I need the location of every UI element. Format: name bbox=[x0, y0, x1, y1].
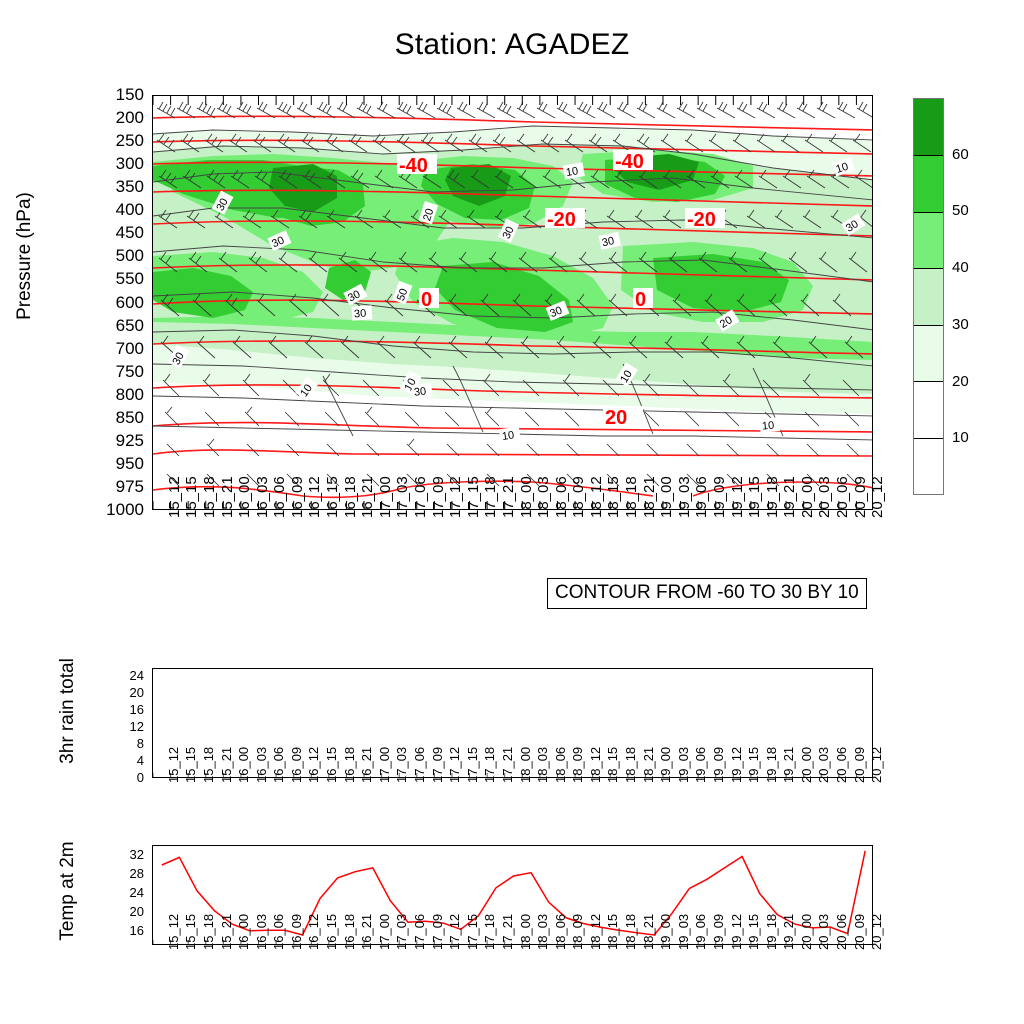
x-tick-label: 16_00 bbox=[236, 476, 253, 518]
x-tick-label: 19_03 bbox=[676, 476, 693, 518]
x-tick-label: 16_18 bbox=[342, 476, 359, 518]
x-tick-label: 16_18 bbox=[342, 747, 357, 783]
x-tick-label: 17_21 bbox=[500, 747, 515, 783]
x-tick-label: 15_15 bbox=[183, 914, 198, 950]
x-tick-label: 17_09 bbox=[430, 747, 445, 783]
x-tick-label: 18_06 bbox=[553, 476, 570, 518]
svg-text:20: 20 bbox=[605, 407, 627, 429]
x-tick-label: 19_00 bbox=[658, 747, 673, 783]
x-tick-label: 16_06 bbox=[271, 914, 286, 950]
x-tick-label: 18_03 bbox=[535, 747, 550, 783]
contour-range-note: CONTOUR FROM -60 TO 30 BY 10 bbox=[547, 578, 867, 609]
svg-text:10: 10 bbox=[762, 420, 775, 433]
y-tick-label: 950 bbox=[84, 455, 144, 472]
colorbar-band bbox=[914, 99, 943, 155]
x-tick-label: 18_03 bbox=[535, 476, 552, 518]
x-tick-label: 19_12 bbox=[729, 914, 744, 950]
y-tick-label: 150 bbox=[84, 86, 144, 103]
x-tick-label: 16_03 bbox=[254, 747, 269, 783]
x-tick-label: 19_18 bbox=[764, 914, 779, 950]
x-tick-label: 15_21 bbox=[219, 747, 234, 783]
x-tick-label: 15_12 bbox=[166, 914, 181, 950]
y-tick-label: 650 bbox=[84, 317, 144, 334]
x-tick-label: 18_21 bbox=[641, 914, 656, 950]
x-tick-label: 17_06 bbox=[412, 747, 427, 783]
x-tick-label: 15_18 bbox=[201, 476, 218, 518]
x-tick-label: 15_18 bbox=[201, 747, 216, 783]
x-tick-label: 16_06 bbox=[271, 747, 286, 783]
x-tick-label: 16_00 bbox=[236, 914, 251, 950]
colorbar-tick-label: 10 bbox=[952, 429, 969, 446]
y-tick-label: 750 bbox=[84, 363, 144, 380]
y-tick-label: 16 bbox=[104, 924, 144, 937]
x-tick-label: 16_12 bbox=[306, 476, 323, 518]
y-axis-label-rain: 3hr rain total bbox=[57, 611, 79, 811]
x-tick-label: 18_03 bbox=[535, 914, 550, 950]
y-tick-label: 400 bbox=[84, 201, 144, 218]
x-tick-label: 19_00 bbox=[658, 476, 675, 518]
x-tick-label: 18_21 bbox=[641, 747, 656, 783]
y-tick-label: 600 bbox=[84, 294, 144, 311]
x-tick-label: 18_09 bbox=[570, 476, 587, 518]
colorbar-band bbox=[914, 155, 943, 211]
svg-text:30: 30 bbox=[601, 235, 615, 249]
x-tick-label: 15_18 bbox=[201, 914, 216, 950]
x-tick-label: 17_09 bbox=[430, 914, 445, 950]
y-tick-label: 28 bbox=[104, 867, 144, 880]
x-tick-label: 17_03 bbox=[394, 914, 409, 950]
x-tick-label: 19_21 bbox=[781, 747, 796, 783]
x-tick-label: 19_18 bbox=[764, 747, 779, 783]
x-tick-label: 17_15 bbox=[465, 747, 480, 783]
x-tick-label: 17_06 bbox=[412, 914, 427, 950]
y-tick-label: 350 bbox=[84, 178, 144, 195]
x-tick-label: 20_06 bbox=[834, 476, 851, 518]
x-tick-label: 20_06 bbox=[834, 747, 849, 783]
x-tick-label: 17_12 bbox=[447, 747, 462, 783]
y-tick-label: 550 bbox=[84, 270, 144, 287]
x-tick-label: 17_18 bbox=[482, 747, 497, 783]
cross-section-canvas: 30 30 30 50 20 30 30 10 30 20 10 30 30 1… bbox=[153, 96, 873, 510]
x-tick-label: 18_00 bbox=[518, 914, 533, 950]
x-tick-label: 16_15 bbox=[324, 476, 341, 518]
x-tick-label: 19_03 bbox=[676, 914, 691, 950]
x-tick-label: 17_21 bbox=[500, 476, 517, 518]
x-tick-label: 19_03 bbox=[676, 747, 691, 783]
x-tick-label: 19_06 bbox=[693, 747, 708, 783]
x-tick-label: 17_09 bbox=[430, 476, 447, 518]
svg-text:-40: -40 bbox=[399, 155, 428, 177]
x-tick-label: 20_12 bbox=[869, 476, 886, 518]
y-tick-label: 20 bbox=[104, 905, 144, 918]
x-tick-label: 20_09 bbox=[852, 914, 867, 950]
x-tick-label: 15_21 bbox=[219, 914, 234, 950]
x-tick-label: 20_00 bbox=[799, 747, 814, 783]
x-tick-label: 16_21 bbox=[359, 914, 374, 950]
x-tick-label: 19_09 bbox=[711, 914, 726, 950]
x-tick-label: 17_03 bbox=[394, 747, 409, 783]
x-tick-label: 20_06 bbox=[834, 914, 849, 950]
x-tick-label: 20_00 bbox=[799, 914, 814, 950]
x-tick-label: 18_15 bbox=[605, 914, 620, 950]
x-tick-label: 15_21 bbox=[219, 476, 236, 518]
x-tick-label: 18_00 bbox=[518, 747, 533, 783]
x-tick-label: 18_18 bbox=[623, 476, 640, 518]
y-tick-label: 800 bbox=[84, 386, 144, 403]
colorbar-tick-label: 60 bbox=[952, 146, 969, 163]
y-tick-label: 0 bbox=[104, 771, 144, 784]
y-tick-label: 24 bbox=[104, 886, 144, 899]
y-tick-label: 500 bbox=[84, 247, 144, 264]
x-tick-label: 17_00 bbox=[377, 914, 392, 950]
x-tick-label: 16_09 bbox=[289, 476, 306, 518]
x-tick-label: 16_15 bbox=[324, 914, 339, 950]
x-tick-label: 17_18 bbox=[482, 914, 497, 950]
x-tick-label: 18_18 bbox=[623, 914, 638, 950]
y-tick-label: 450 bbox=[84, 224, 144, 241]
svg-text:30: 30 bbox=[354, 308, 367, 321]
x-tick-label: 18_18 bbox=[623, 747, 638, 783]
x-tick-label: 19_00 bbox=[658, 914, 673, 950]
x-tick-label: 15_12 bbox=[166, 476, 183, 518]
x-tick-label: 17_18 bbox=[482, 476, 499, 518]
x-tick-label: 19_06 bbox=[693, 914, 708, 950]
y-tick-label: 1000 bbox=[84, 501, 144, 518]
colorbar-tick-label: 50 bbox=[952, 202, 969, 219]
x-tick-label: 18_06 bbox=[553, 747, 568, 783]
y-tick-label: 8 bbox=[104, 737, 144, 750]
x-tick-label: 16_06 bbox=[271, 476, 288, 518]
x-tick-label: 15_15 bbox=[183, 747, 198, 783]
x-tick-label: 19_09 bbox=[711, 476, 728, 518]
x-tick-label: 16_12 bbox=[306, 914, 321, 950]
colorbar-tick-label: 40 bbox=[952, 259, 969, 276]
x-tick-label: 16_03 bbox=[254, 914, 269, 950]
x-tick-label: 18_15 bbox=[605, 747, 620, 783]
x-tick-label: 19_15 bbox=[746, 747, 761, 783]
x-tick-label: 15_15 bbox=[183, 476, 200, 518]
x-tick-label: 17_15 bbox=[465, 476, 482, 518]
colorbar bbox=[913, 98, 944, 495]
x-tick-label: 16_09 bbox=[289, 747, 304, 783]
svg-text:0: 0 bbox=[421, 289, 432, 311]
x-tick-label: 19_18 bbox=[764, 476, 781, 518]
colorbar-band bbox=[914, 212, 943, 268]
y-tick-label: 32 bbox=[104, 848, 144, 861]
x-tick-label: 20_03 bbox=[816, 747, 831, 783]
x-tick-label: 20_00 bbox=[799, 476, 816, 518]
x-tick-label: 16_15 bbox=[324, 747, 339, 783]
y-tick-label: 300 bbox=[84, 155, 144, 172]
svg-text:-20: -20 bbox=[687, 209, 716, 231]
svg-text:30: 30 bbox=[413, 385, 426, 398]
y-tick-label: 925 bbox=[84, 432, 144, 449]
x-tick-label: 16_00 bbox=[236, 747, 251, 783]
y-tick-label: 700 bbox=[84, 340, 144, 357]
y-tick-label: 24 bbox=[104, 669, 144, 682]
x-tick-label: 17_15 bbox=[465, 914, 480, 950]
svg-text:10: 10 bbox=[565, 165, 579, 179]
x-tick-label: 20_03 bbox=[816, 476, 833, 518]
colorbar-band bbox=[914, 325, 943, 381]
x-tick-label: 16_21 bbox=[359, 747, 374, 783]
y-tick-label: 20 bbox=[104, 686, 144, 699]
x-tick-label: 19_21 bbox=[781, 476, 798, 518]
x-tick-label: 17_06 bbox=[412, 476, 429, 518]
x-tick-label: 19_09 bbox=[711, 747, 726, 783]
colorbar-band bbox=[914, 268, 943, 324]
svg-text:-20: -20 bbox=[547, 209, 576, 231]
x-tick-label: 16_12 bbox=[306, 747, 321, 783]
x-tick-label: 18_15 bbox=[605, 476, 622, 518]
x-tick-label: 19_15 bbox=[746, 914, 761, 950]
x-tick-label: 20_12 bbox=[869, 914, 884, 950]
y-tick-label: 850 bbox=[84, 409, 144, 426]
svg-text:10: 10 bbox=[501, 429, 515, 443]
y-tick-label: 16 bbox=[104, 703, 144, 716]
x-tick-label: 17_12 bbox=[447, 914, 462, 950]
colorbar-tick-label: 20 bbox=[952, 373, 969, 390]
y-tick-label: 4 bbox=[104, 754, 144, 767]
x-tick-label: 18_09 bbox=[570, 914, 585, 950]
page-title: Station: AGADEZ bbox=[0, 28, 1024, 62]
x-tick-label: 16_18 bbox=[342, 914, 357, 950]
x-tick-label: 18_12 bbox=[588, 914, 603, 950]
x-tick-label: 19_21 bbox=[781, 914, 796, 950]
x-tick-label: 17_00 bbox=[377, 747, 392, 783]
x-tick-label: 17_00 bbox=[377, 476, 394, 518]
x-tick-label: 16_03 bbox=[254, 476, 271, 518]
y-tick-label: 975 bbox=[84, 478, 144, 495]
x-tick-label: 18_12 bbox=[588, 476, 605, 518]
x-tick-label: 20_09 bbox=[852, 747, 867, 783]
x-tick-label: 20_09 bbox=[852, 476, 869, 518]
x-tick-label: 19_12 bbox=[729, 476, 746, 518]
svg-text:0: 0 bbox=[635, 289, 646, 311]
svg-text:-40: -40 bbox=[615, 151, 644, 173]
x-tick-label: 17_03 bbox=[394, 476, 411, 518]
colorbar-tick-label: 30 bbox=[952, 316, 969, 333]
x-tick-label: 16_09 bbox=[289, 914, 304, 950]
x-tick-label: 18_21 bbox=[641, 476, 658, 518]
x-tick-label: 19_15 bbox=[746, 476, 763, 518]
x-tick-label: 18_12 bbox=[588, 747, 603, 783]
x-tick-label: 16_21 bbox=[359, 476, 376, 518]
y-tick-label: 200 bbox=[84, 109, 144, 126]
x-tick-label: 18_00 bbox=[518, 476, 535, 518]
colorbar-band bbox=[914, 438, 943, 494]
x-tick-label: 19_12 bbox=[729, 747, 744, 783]
x-tick-label: 20_03 bbox=[816, 914, 831, 950]
x-tick-label: 15_12 bbox=[166, 747, 181, 783]
x-tick-label: 18_09 bbox=[570, 747, 585, 783]
colorbar-band bbox=[914, 381, 943, 437]
time-height-cross-section-plot: 30 30 30 50 20 30 30 10 30 20 10 30 30 1… bbox=[152, 95, 873, 510]
x-tick-label: 18_06 bbox=[553, 914, 568, 950]
x-tick-label: 19_06 bbox=[693, 476, 710, 518]
x-tick-label: 17_12 bbox=[447, 476, 464, 518]
y-axis-label-pressure: Pressure (hPa) bbox=[14, 126, 36, 386]
x-tick-label: 20_12 bbox=[869, 747, 884, 783]
y-axis-label-temp: Temp at 2m bbox=[57, 801, 79, 981]
x-tick-label: 17_21 bbox=[500, 914, 515, 950]
y-tick-label: 12 bbox=[104, 720, 144, 733]
y-tick-label: 250 bbox=[84, 132, 144, 149]
